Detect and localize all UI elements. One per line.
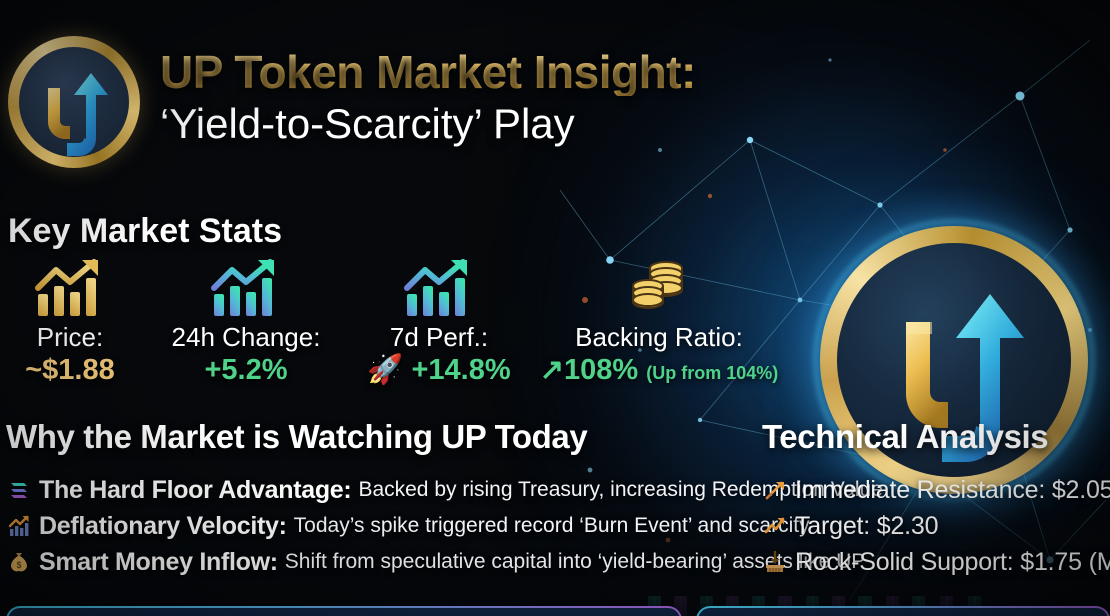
list-item: Rock-Solid Support: $1.75 (Ma <box>762 544 1110 580</box>
list-item-title: The Hard Floor Advantage: <box>39 476 351 505</box>
header-title-block: UP Token Market Insight: ‘Yield-to-Scarc… <box>160 48 880 147</box>
coin-stack-icon <box>528 258 790 320</box>
page-subtitle: ‘Yield-to-Scarcity’ Play <box>160 100 880 147</box>
page-title: UP Token Market Insight: <box>160 48 880 96</box>
money-bag-icon: $ <box>6 549 32 575</box>
list-item: $ Smart Money Inflow: Shift from specula… <box>6 544 776 580</box>
technical-analysis-list: Immediate Resistance: $2.05 Target: $2.3… <box>762 472 1110 580</box>
anvil-support-icon <box>762 549 788 575</box>
stat-value: ~$1.88 <box>6 356 134 385</box>
stat-backing-ratio: Backing Ratio: ↗108% (Up from 104%) <box>528 258 790 385</box>
key-market-stats-heading: Key Market Stats <box>8 212 282 251</box>
infographic-canvas: UP Token Market Insight: ‘Yield-to-Scarc… <box>0 0 1110 616</box>
list-item-text: Immediate Resistance: $2.05 <box>795 476 1110 505</box>
chart-increasing-teal-icon <box>152 258 340 320</box>
key-market-stats-row: Price: ~$1.88 24h Change: +5.2% <box>0 258 800 403</box>
technical-analysis-heading: Technical Analysis <box>762 418 1048 456</box>
list-item: The Hard Floor Advantage: Backed by risi… <box>6 472 776 508</box>
why-section-list: The Hard Floor Advantage: Backed by risi… <box>6 472 776 580</box>
bottom-card-left[interactable] <box>6 606 682 616</box>
chart-increasing-icon <box>6 513 32 539</box>
list-item-text: Target: $2.30 <box>795 512 938 541</box>
why-section-heading: Why the Market is Watching UP Today <box>6 418 587 456</box>
layers-stack-icon <box>6 477 32 503</box>
up-token-coin-logo-icon <box>8 36 140 168</box>
list-item-text: Rock-Solid Support: $1.75 (Ma <box>795 548 1110 577</box>
stat-value-note: (Up from 104%) <box>646 363 778 383</box>
list-item: Target: $2.30 <box>762 508 1110 544</box>
stat-label: 24h Change: <box>152 324 340 350</box>
stat-label: Backing Ratio: <box>528 324 790 350</box>
arrow-up-right-chart-icon <box>762 477 788 503</box>
stat-value: 🚀 +14.8% <box>364 356 514 385</box>
bottom-card-right[interactable] <box>696 606 1110 616</box>
chart-increasing-icon <box>762 513 788 539</box>
list-item-text: Today’s spike triggered record ‘Burn Eve… <box>294 514 810 538</box>
list-item-title: Smart Money Inflow: <box>39 548 278 577</box>
chart-increasing-teal-icon <box>364 258 514 320</box>
stat-value-main: ↗108% <box>540 354 638 386</box>
stat-price: Price: ~$1.88 <box>6 258 134 385</box>
stat-label: 7d Perf.: <box>364 324 514 350</box>
list-item: Deflationary Velocity: Today’s spike tri… <box>6 508 776 544</box>
svg-text:$: $ <box>16 560 21 570</box>
stat-value: ↗108% (Up from 104%) <box>528 356 790 385</box>
stat-label: Price: <box>6 324 134 350</box>
chart-increasing-gold-icon <box>6 258 134 320</box>
stat-24h-change: 24h Change: +5.2% <box>152 258 340 385</box>
list-item-title: Deflationary Velocity: <box>39 512 287 541</box>
stat-7d-perf: 7d Perf.: 🚀 +14.8% <box>364 258 514 385</box>
list-item: Immediate Resistance: $2.05 <box>762 472 1110 508</box>
stat-value: +5.2% <box>152 356 340 385</box>
